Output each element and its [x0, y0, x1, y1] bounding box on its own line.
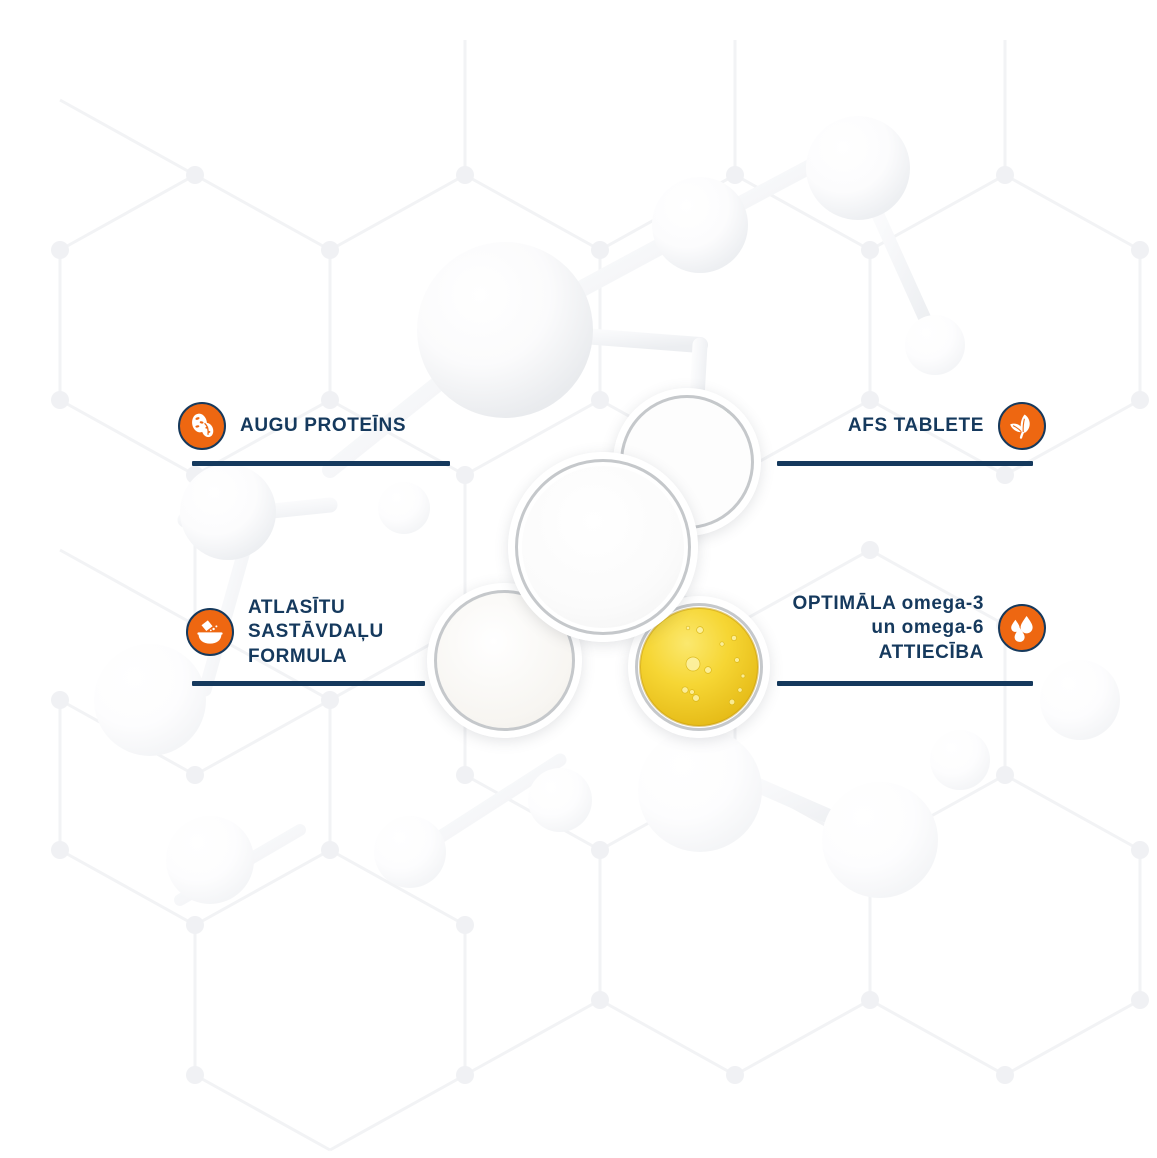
feature-afs-tablete[interactable]: AFS TABLETE [848, 402, 1046, 450]
feature-underline-augu-proteins [192, 461, 450, 466]
feature-label: AFS TABLETE [848, 414, 984, 438]
water-drops-icon [998, 604, 1046, 652]
feature-label: OPTIMĀLA omega-3 un omega-6 ATTIECĪBA [792, 592, 984, 665]
infographic-canvas: AUGU PROTEĪNS AFS TABLETE [0, 0, 1157, 1158]
ingredient-bubble-cluster [0, 0, 1157, 1158]
kibble-photo [522, 466, 684, 628]
feature-underline-atlasitu-formula [192, 681, 425, 686]
feature-underline-afs-tablete [777, 461, 1033, 466]
feature-augu-proteins[interactable]: AUGU PROTEĪNS [178, 402, 406, 450]
bubble-kibble [508, 452, 698, 642]
sprout-icon [998, 402, 1046, 450]
feature-label: AUGU PROTEĪNS [240, 414, 406, 438]
feature-omega-ratio[interactable]: OPTIMĀLA omega-3 un omega-6 ATTIECĪBA [792, 592, 1046, 665]
beans-icon [178, 402, 226, 450]
feature-underline-omega-ratio [777, 681, 1033, 686]
feature-atlasitu-formula[interactable]: ATLASĪTU SASTĀVDAĻU FORMULA [186, 596, 384, 669]
feature-label: ATLASĪTU SASTĀVDAĻU FORMULA [248, 596, 384, 669]
mixing-bowl-icon [186, 608, 234, 656]
